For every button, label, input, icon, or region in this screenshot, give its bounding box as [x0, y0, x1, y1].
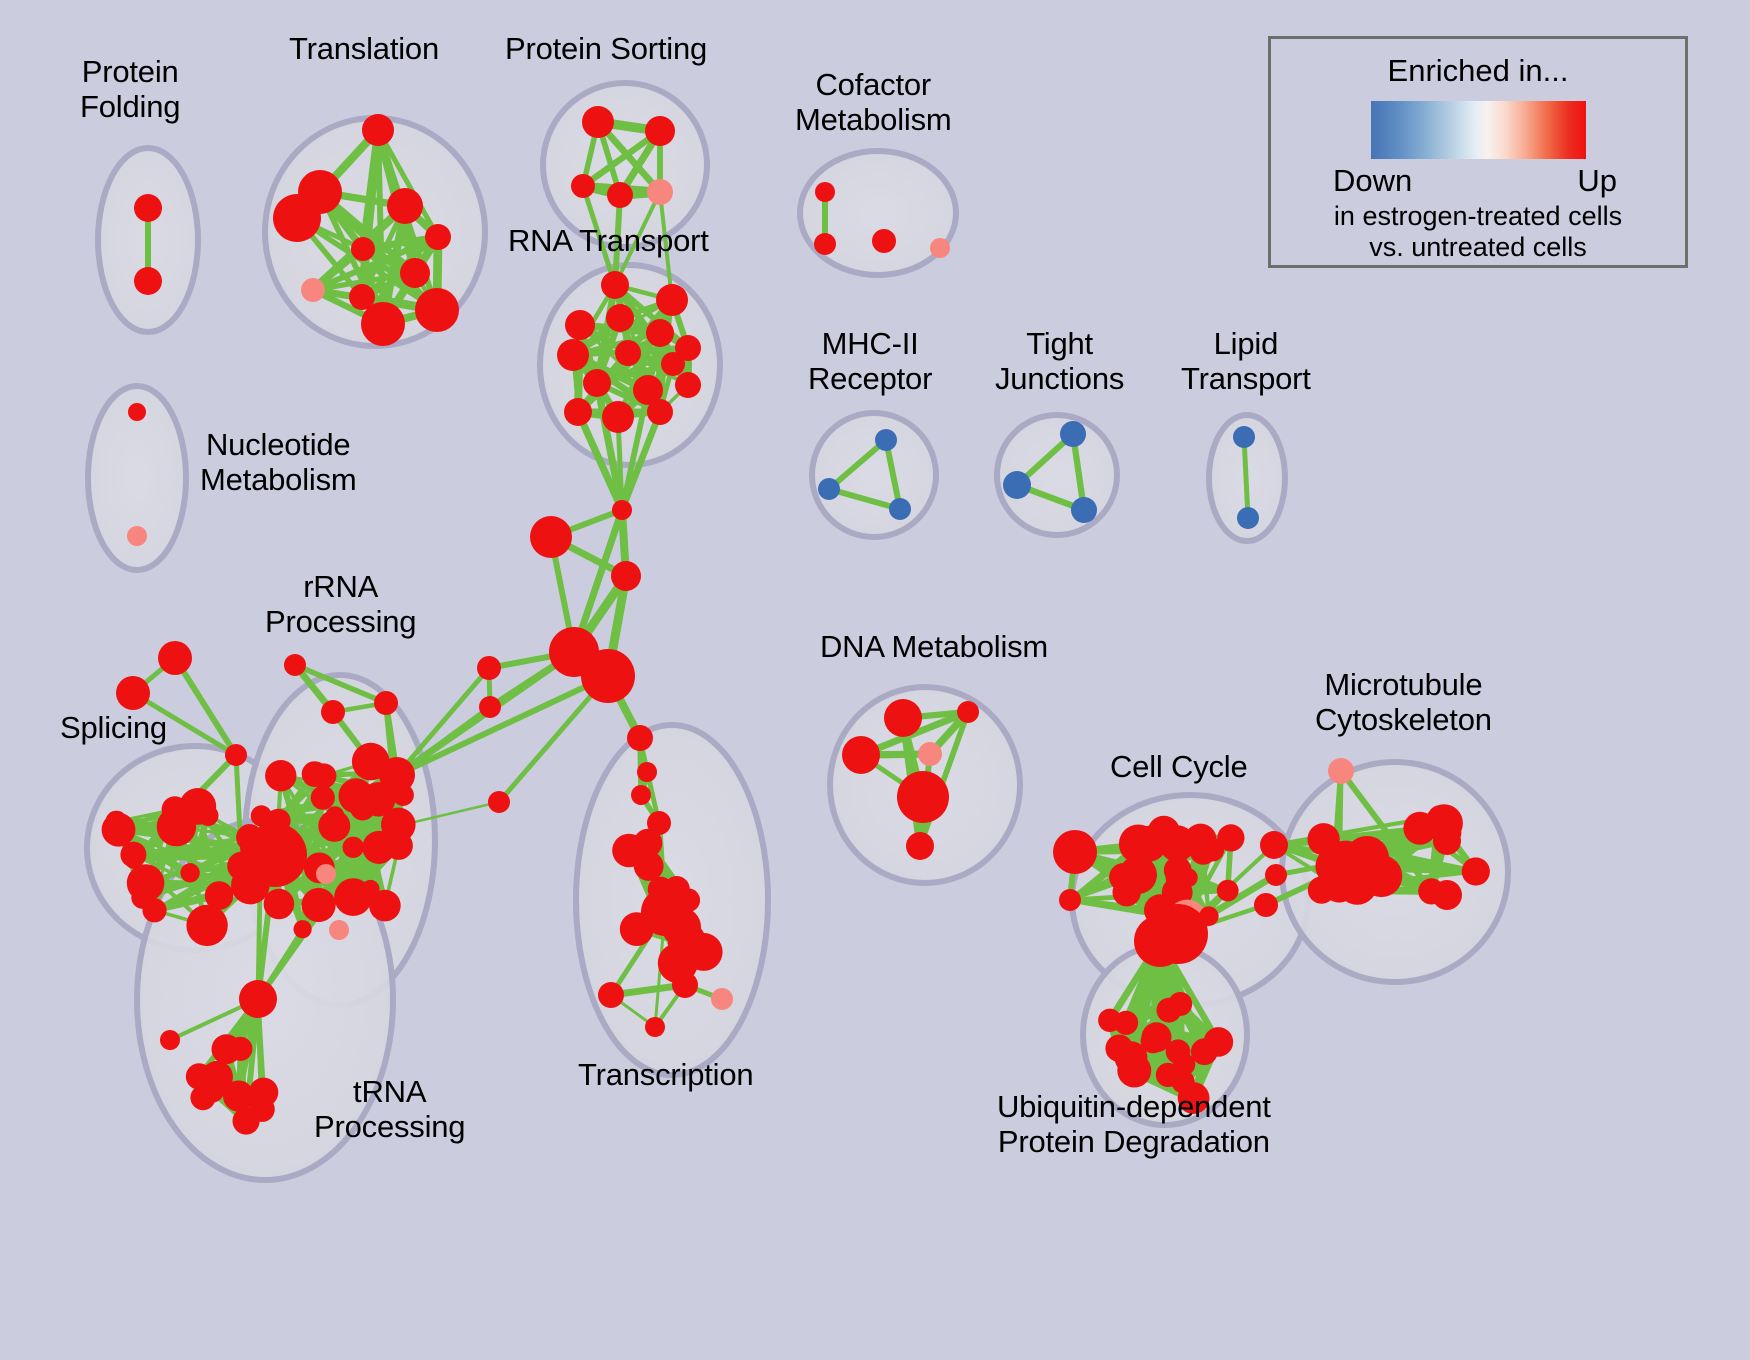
network-node	[180, 863, 199, 882]
network-node	[311, 786, 335, 810]
network-node	[711, 988, 733, 1010]
cluster-label-microtubule-cytoskeleton: Microtubule Cytoskeleton	[1315, 668, 1492, 737]
legend-endpoints: Down Up	[1333, 163, 1623, 199]
network-node	[400, 258, 430, 288]
network-node	[1462, 857, 1490, 885]
network-node	[362, 114, 394, 146]
network-node	[326, 806, 344, 824]
network-node	[223, 1081, 254, 1112]
network-node	[1237, 507, 1259, 529]
network-node	[1190, 838, 1217, 865]
network-node	[615, 340, 641, 366]
network-node	[301, 278, 325, 302]
network-node	[343, 837, 364, 858]
network-node	[374, 691, 398, 715]
network-node	[897, 771, 949, 823]
network-node	[842, 736, 880, 774]
network-node	[243, 823, 307, 887]
network-node	[415, 288, 459, 332]
network-node	[606, 304, 634, 332]
cluster-label-trna-processing: tRNA Processing	[314, 1075, 465, 1144]
network-node	[134, 194, 162, 222]
network-node	[329, 920, 349, 940]
network-node	[385, 832, 413, 860]
network-node	[127, 864, 165, 902]
cluster-label-splicing: Splicing	[60, 711, 167, 746]
cluster-label-dna-metabolism: DNA Metabolism	[820, 630, 1048, 665]
network-node	[1113, 878, 1141, 906]
cluster-label-tight-junctions: Tight Junctions	[995, 327, 1124, 396]
network-node	[212, 1034, 242, 1064]
network-node	[239, 980, 277, 1018]
network-node	[488, 791, 510, 813]
network-node	[1060, 421, 1086, 447]
network-node	[477, 656, 501, 680]
network-node	[564, 398, 592, 426]
network-node	[1053, 830, 1097, 874]
network-node	[884, 699, 922, 737]
network-node	[186, 905, 227, 946]
network-node	[1308, 876, 1335, 903]
network-node	[361, 302, 405, 346]
network-node	[661, 352, 685, 376]
cluster-label-transcription: Transcription	[578, 1058, 753, 1093]
legend-colorbar	[1371, 101, 1586, 159]
network-node	[598, 982, 624, 1008]
network-node	[571, 174, 595, 198]
network-node	[1265, 864, 1287, 886]
network-node	[557, 339, 589, 371]
network-node	[906, 832, 934, 860]
network-node	[334, 878, 372, 916]
network-node	[1071, 497, 1097, 523]
network-node	[198, 805, 219, 826]
network-node	[369, 890, 401, 922]
legend-caption: in estrogen-treated cells vs. untreated …	[1271, 201, 1685, 263]
network-node	[611, 561, 641, 591]
network-node	[351, 237, 375, 261]
network-node	[225, 744, 247, 766]
network-node	[582, 106, 614, 138]
network-node	[875, 429, 897, 451]
network-edge	[397, 676, 608, 775]
network-node	[1105, 1035, 1133, 1063]
network-node	[601, 271, 629, 299]
network-node	[530, 516, 572, 558]
cluster-label-nucleotide-metabolism: Nucleotide Metabolism	[200, 428, 357, 497]
network-node	[160, 1030, 180, 1050]
network-node	[294, 920, 312, 938]
network-node	[634, 829, 663, 858]
cluster-label-ubiquitin-degradation: Ubiquitin-dependent Protein Degradation	[997, 1090, 1271, 1159]
network-node	[565, 310, 595, 340]
legend-high-label: Up	[1577, 163, 1617, 199]
cluster-label-translation: Translation	[289, 32, 439, 67]
cluster-label-cofactor-metabolism: Cofactor Metabolism	[795, 68, 952, 137]
cluster-label-lipid-transport: Lipid Transport	[1181, 327, 1311, 396]
network-node	[602, 401, 634, 433]
legend-box: Enriched in... Down Up in estrogen-treat…	[1268, 36, 1688, 268]
network-node	[127, 526, 147, 546]
network-node	[302, 761, 328, 787]
network-node	[302, 888, 336, 922]
network-node	[647, 399, 673, 425]
cluster-label-protein-folding: Protein Folding	[80, 55, 180, 124]
network-node	[479, 696, 501, 718]
network-node	[157, 807, 196, 846]
network-node	[1217, 880, 1239, 902]
enrichment-network-figure: Protein FoldingTranslationProtein Sortin…	[0, 0, 1750, 1360]
cluster-label-protein-sorting: Protein Sorting	[505, 32, 707, 67]
network-node	[607, 182, 633, 208]
network-node	[637, 762, 657, 782]
network-node	[1254, 893, 1278, 917]
network-node	[321, 700, 345, 724]
network-node	[284, 654, 306, 676]
network-node	[1433, 827, 1461, 855]
network-node	[1233, 426, 1255, 448]
network-node	[647, 179, 673, 205]
network-node	[641, 888, 689, 936]
network-node	[918, 742, 942, 766]
network-node	[425, 224, 451, 250]
network-node	[387, 188, 423, 224]
network-node	[645, 1017, 665, 1037]
network-edge	[175, 658, 236, 755]
network-node	[1328, 758, 1354, 784]
network-node	[264, 889, 295, 920]
network-node	[1164, 856, 1192, 884]
cluster-label-rrna-processing: rRNA Processing	[265, 570, 416, 639]
network-node	[1059, 889, 1081, 911]
network-node	[646, 319, 674, 347]
network-node	[316, 864, 336, 884]
network-node	[350, 795, 375, 820]
network-node	[889, 498, 911, 520]
cluster-label-mhc-ii-receptor: MHC-II Receptor	[808, 327, 932, 396]
network-node	[1003, 471, 1031, 499]
network-node	[818, 478, 840, 500]
network-node	[134, 267, 162, 295]
network-node	[1148, 816, 1180, 848]
network-node	[251, 805, 272, 826]
network-node	[273, 194, 321, 242]
network-node	[672, 972, 698, 998]
network-node	[583, 369, 611, 397]
network-node	[930, 238, 950, 258]
network-node	[1204, 1027, 1234, 1057]
network-node	[627, 725, 653, 751]
network-node	[379, 757, 415, 793]
network-node	[814, 233, 836, 255]
network-node	[957, 701, 979, 723]
network-node	[128, 403, 146, 421]
network-node	[265, 760, 296, 791]
network-node	[1134, 915, 1186, 967]
network-node	[1156, 1063, 1180, 1087]
network-node	[102, 813, 136, 847]
network-node	[1098, 1009, 1121, 1032]
cluster-label-rna-transport: RNA Transport	[508, 224, 709, 259]
network-node	[872, 229, 896, 253]
network-node	[1345, 836, 1389, 880]
legend-low-label: Down	[1333, 163, 1412, 199]
network-node	[656, 284, 688, 316]
cluster-label-cell-cycle: Cell Cycle	[1110, 750, 1248, 785]
legend-title: Enriched in...	[1271, 53, 1685, 89]
network-node	[631, 785, 651, 805]
network-node	[815, 182, 835, 202]
cluster-halo-mhc-ii-receptor	[812, 413, 936, 537]
network-node	[1142, 1022, 1172, 1052]
network-node	[1168, 992, 1192, 1016]
network-node	[645, 116, 675, 146]
network-node	[612, 500, 632, 520]
network-node	[1432, 880, 1462, 910]
network-node	[1260, 831, 1288, 859]
network-node	[581, 649, 635, 703]
network-node	[1217, 824, 1244, 851]
network-node	[116, 676, 150, 710]
network-node	[675, 372, 701, 398]
network-node	[158, 641, 192, 675]
